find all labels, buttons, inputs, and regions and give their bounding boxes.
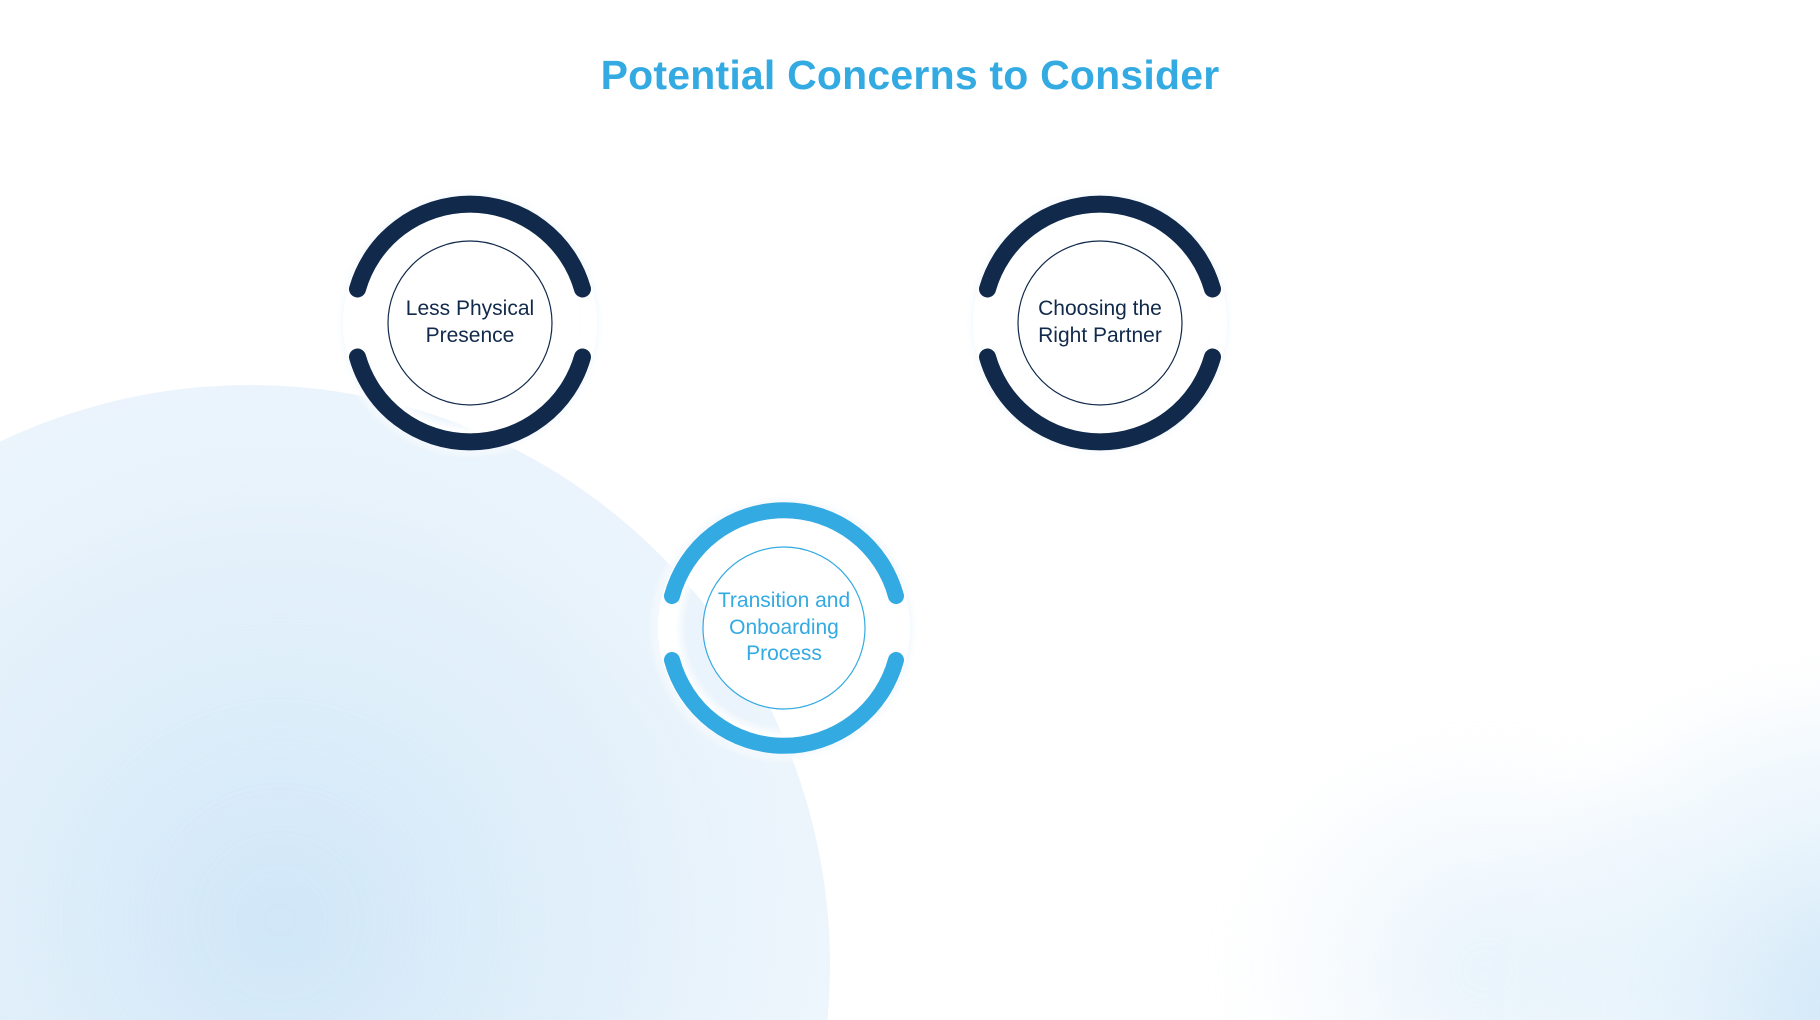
concern-badge-choosing-right-partner[interactable]: Choosing the Right Partner bbox=[962, 185, 1238, 461]
concern-badge-transition-onboarding[interactable]: Transition and Onboarding Process bbox=[648, 488, 920, 768]
page-title: Potential Concerns to Consider bbox=[0, 50, 1820, 101]
background-blob-left-glow bbox=[0, 530, 730, 1020]
concern-label-transition-onboarding: Transition and Onboarding Process bbox=[648, 488, 920, 768]
concern-badge-less-physical-presence[interactable]: Less Physical Presence bbox=[332, 185, 608, 461]
background-blob-right-glow-far bbox=[1250, 760, 1720, 1020]
concern-label-less-physical-presence: Less Physical Presence bbox=[332, 185, 608, 461]
background-blob-right-glow bbox=[1490, 690, 1820, 1020]
slide-canvas: Potential Concerns to Consider bbox=[0, 0, 1820, 1020]
concern-label-choosing-right-partner: Choosing the Right Partner bbox=[962, 185, 1238, 461]
